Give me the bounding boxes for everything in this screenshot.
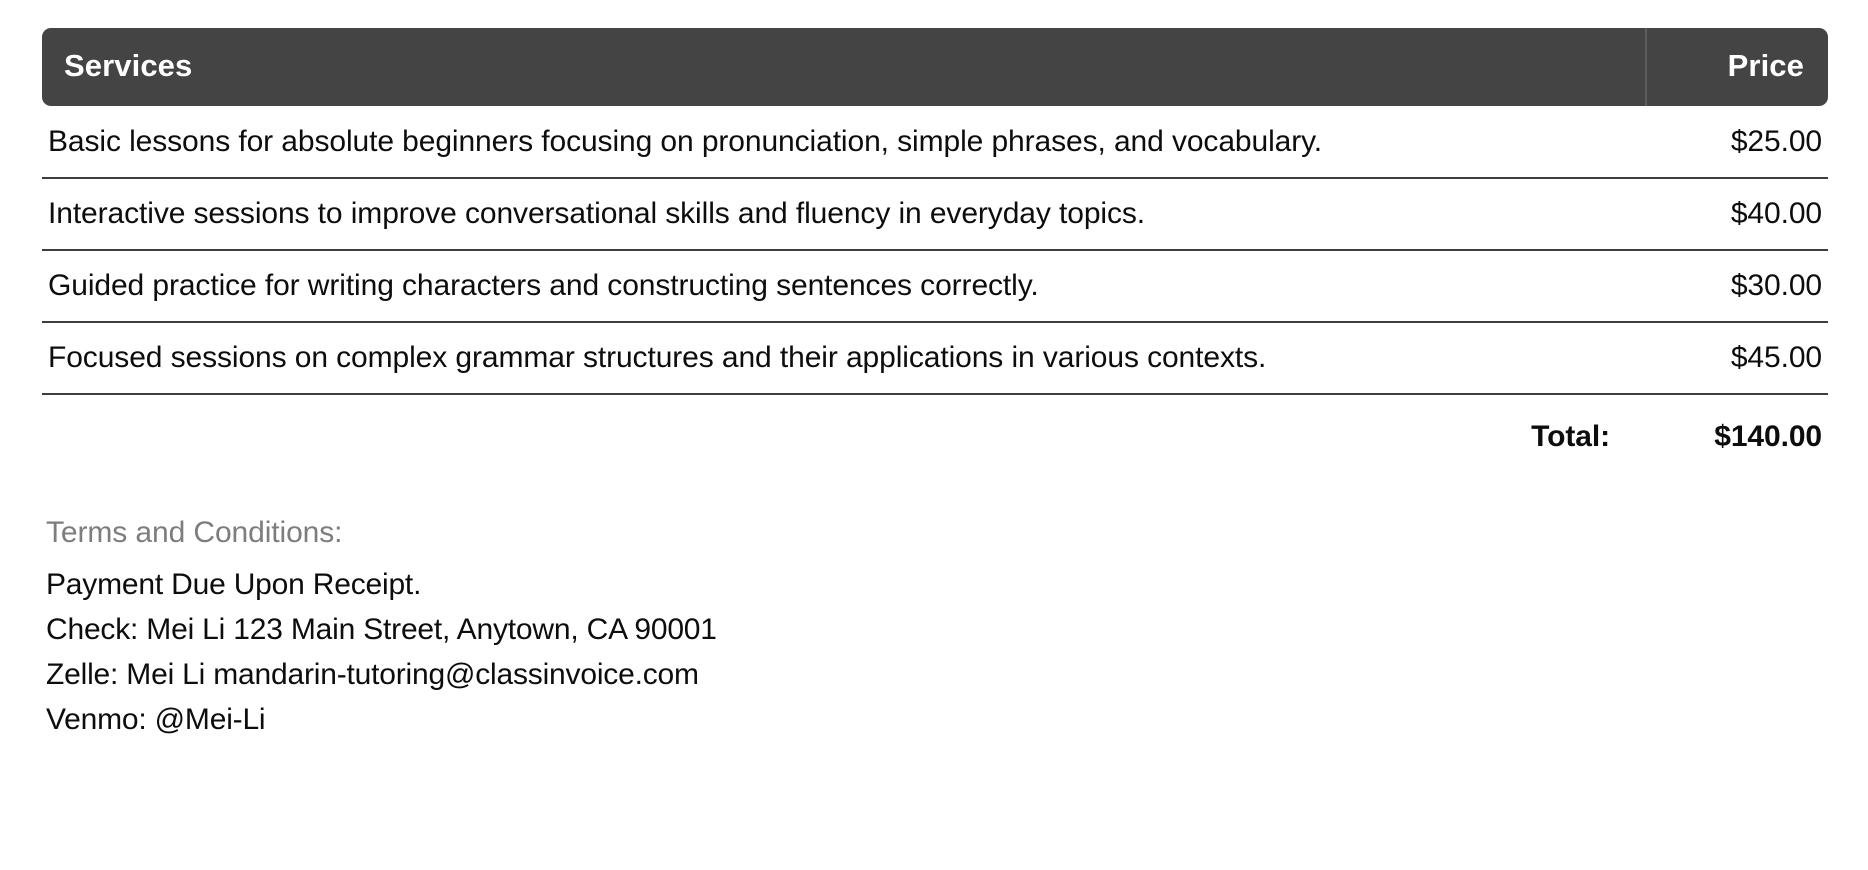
table-row: Basic lessons for absolute beginners foc… [42,106,1828,178]
terms-line-check: Check: Mei Li 123 Main Street, Anytown, … [46,607,1828,652]
table-row: Guided practice for writing characters a… [42,250,1828,322]
terms-and-conditions-section: Terms and Conditions: Payment Due Upon R… [42,516,1828,742]
service-price: $40.00 [1646,178,1828,250]
service-price: $45.00 [1646,322,1828,394]
service-description: Basic lessons for absolute beginners foc… [42,106,1646,178]
total-amount: $140.00 [1646,394,1828,466]
service-description: Interactive sessions to improve conversa… [42,178,1646,250]
table-header-row: Services Price [42,28,1828,106]
service-price: $30.00 [1646,250,1828,322]
table-row: Focused sessions on complex grammar stru… [42,322,1828,394]
column-header-services: Services [42,28,1646,106]
services-price-table: Services Price Basic lessons for absolut… [42,28,1828,466]
terms-line-zelle: Zelle: Mei Li mandarin-tutoring@classinv… [46,652,1828,697]
service-description: Focused sessions on complex grammar stru… [42,322,1646,394]
service-description: Guided practice for writing characters a… [42,250,1646,322]
terms-heading: Terms and Conditions: [46,516,1828,550]
total-label: Total: [42,394,1646,466]
column-header-price: Price [1646,28,1828,106]
invoice-services-sheet: Services Price Basic lessons for absolut… [0,0,1868,870]
table-body: Basic lessons for absolute beginners foc… [42,106,1828,466]
terms-line-payment-due: Payment Due Upon Receipt. [46,562,1828,607]
table-total-row: Total: $140.00 [42,394,1828,466]
service-price: $25.00 [1646,106,1828,178]
terms-line-venmo: Venmo: @Mei-Li [46,697,1828,742]
table-row: Interactive sessions to improve conversa… [42,178,1828,250]
table-header: Services Price [42,28,1828,106]
